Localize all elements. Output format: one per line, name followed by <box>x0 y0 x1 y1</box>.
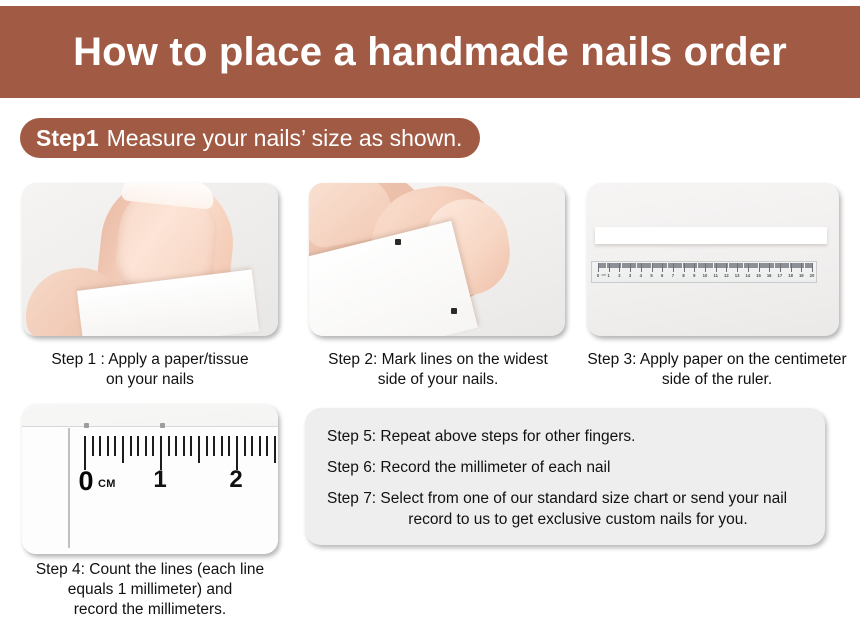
ruler-tick <box>160 436 162 470</box>
ruler-closeup-ticks <box>22 436 278 470</box>
step1-pill: Step1 Measure your nails’ size as shown. <box>20 118 480 158</box>
caption-step4-line1: Step 4: Count the lines (each line <box>0 560 300 580</box>
ruler-tick <box>251 436 253 456</box>
steps-5-7-box: Step 5: Repeat above steps for other fin… <box>305 408 825 545</box>
ruler-number: 2 <box>229 466 242 494</box>
ruler-number: 2 <box>618 273 620 278</box>
ruler-zero-label: 0 <box>78 466 93 497</box>
ruler-notch-right <box>160 423 165 428</box>
photo-card-step3: 01234567891011121314151617181920cm <box>587 183 839 336</box>
caption-step4-line3: record the millimeters. <box>0 600 300 620</box>
caption-step3-line1: Step 3: Apply paper on the centimeter <box>578 350 856 370</box>
ruler-number: 1 <box>608 273 610 278</box>
caption-step2: Step 2: Mark lines on the widest side of… <box>296 350 580 390</box>
photo-step2-image <box>309 183 565 336</box>
ruler-number: 13 <box>735 273 740 278</box>
ruler-number: 16 <box>767 273 772 278</box>
ruler-number: 0 <box>597 273 599 278</box>
steps-line-6: Step 6: Record the millimeter of each na… <box>327 457 803 478</box>
ruler-number: 12 <box>724 273 729 278</box>
ruler-tick <box>122 436 124 463</box>
photo-step4-image: 0CM123 <box>22 404 278 554</box>
pen-mark-bottom <box>451 308 457 314</box>
ruler-number: 3 <box>629 273 631 278</box>
ruler-tick <box>266 436 268 456</box>
caption-step4-line2: equals 1 millimeter) and <box>0 580 300 600</box>
ruler-number: 8 <box>682 273 684 278</box>
ruler-number: 18 <box>788 273 793 278</box>
ruler-tick <box>206 436 208 456</box>
ruler-tick <box>190 436 192 456</box>
caption-step2-line1: Step 2: Mark lines on the widest <box>296 350 580 370</box>
caption-step2-line2: side of your nails. <box>296 370 580 390</box>
ruler-unit-label: cm <box>601 273 606 277</box>
ruler-tick <box>92 436 94 456</box>
ruler-tick <box>244 436 246 456</box>
header-banner: How to place a handmade nails order <box>0 6 860 98</box>
photo-card-step1 <box>22 183 278 336</box>
ruler-tick <box>168 436 170 456</box>
pen-mark-top <box>395 239 401 245</box>
ruler-tick <box>145 436 147 456</box>
step1-instruction-label: Measure your nails’ size as shown. <box>107 125 463 152</box>
step1-badge-label: Step1 <box>36 125 99 152</box>
caption-step1: Step 1 : Apply a paper/tissue on your na… <box>8 350 292 390</box>
ruler-tick <box>236 436 238 470</box>
steps-line-5: Step 5: Repeat above steps for other fin… <box>327 426 803 447</box>
ruler-tick <box>175 436 177 456</box>
ruler-long-shape: 01234567891011121314151617181920cm <box>591 261 817 283</box>
ruler-tick <box>228 436 230 456</box>
ruler-number: 6 <box>661 273 663 278</box>
caption-step3: Step 3: Apply paper on the centimeter si… <box>578 350 856 390</box>
ruler-number: 17 <box>778 273 783 278</box>
ruler-tick <box>152 436 154 456</box>
ruler-number: 19 <box>799 273 804 278</box>
caption-step3-line2: side of the ruler. <box>578 370 856 390</box>
page-title: How to place a handmade nails order <box>73 30 787 75</box>
ruler-long-numbers: 01234567891011121314151617181920cm <box>592 273 816 284</box>
ruler-tick <box>183 436 185 456</box>
ruler-tick <box>107 436 109 456</box>
ruler-tick <box>99 436 101 456</box>
ruler-tick <box>114 436 116 456</box>
ruler-number: 1 <box>153 466 166 494</box>
photo-step1-image <box>22 183 278 336</box>
ruler-unit-label: CM <box>98 478 116 490</box>
ruler-notch-left <box>84 423 89 428</box>
ruler-number: 7 <box>672 273 674 278</box>
ruler-number: 15 <box>756 273 761 278</box>
ruler-tick <box>130 436 132 456</box>
ruler-number: 11 <box>713 273 717 278</box>
ruler-tick <box>198 436 200 463</box>
ruler-number: 4 <box>640 273 642 278</box>
ruler-tick <box>274 436 276 463</box>
ruler-tick <box>259 436 261 456</box>
ruler-number: 9 <box>693 273 695 278</box>
steps-line-7: Step 7: Select from one of our standard … <box>327 488 803 530</box>
steps-line-7-part2: record to us to get exclusive custom nai… <box>327 509 803 530</box>
ruler-tick <box>84 436 86 470</box>
photo-card-step2 <box>309 183 565 336</box>
ruler-number: 10 <box>703 273 708 278</box>
ruler-tick <box>137 436 139 456</box>
ruler-number: 5 <box>650 273 652 278</box>
ruler-tick <box>812 263 813 272</box>
photo-step3-image: 01234567891011121314151617181920cm <box>587 183 839 336</box>
ruler-closeup-labels: 0CM123 <box>22 466 278 496</box>
ruler-number: 14 <box>745 273 750 278</box>
ruler-tick <box>213 436 215 456</box>
caption-step1-line2: on your nails <box>8 370 292 390</box>
caption-step1-line1: Step 1 : Apply a paper/tissue <box>8 350 292 370</box>
ruler-tick <box>221 436 223 456</box>
steps-line-7-part1: Step 7: Select from one of our standard … <box>327 490 787 507</box>
paper-strip-shape <box>595 227 827 244</box>
photo-card-step4: 0CM123 <box>22 404 278 554</box>
caption-step4: Step 4: Count the lines (each line equal… <box>0 560 300 620</box>
ruler-number: 20 <box>810 273 815 278</box>
